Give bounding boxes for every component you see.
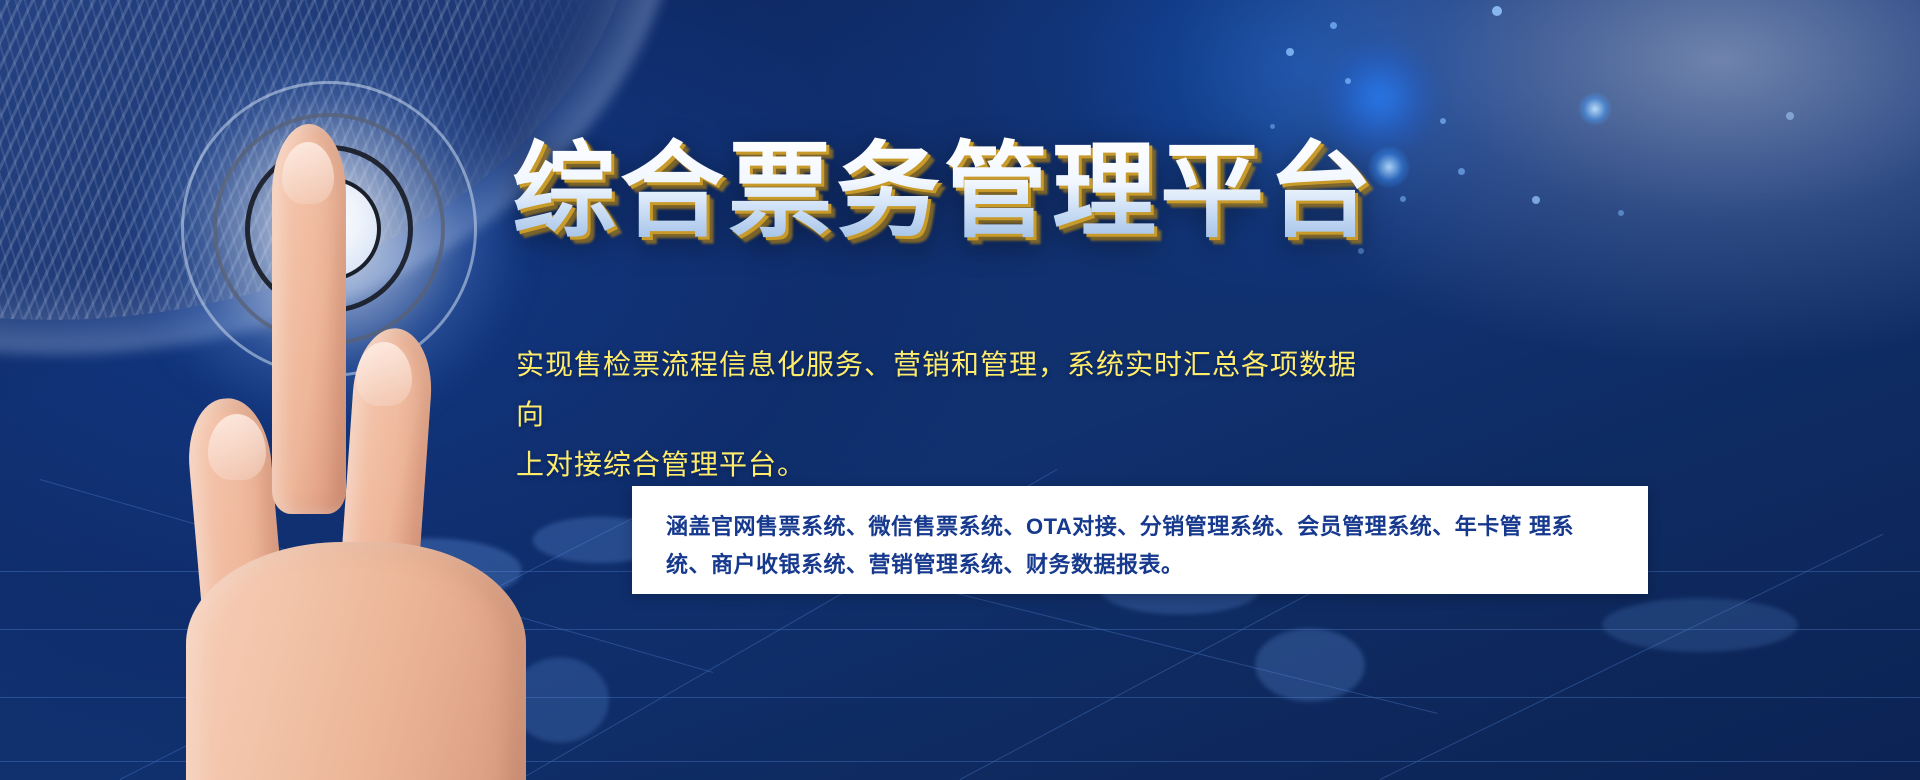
banner-subtitle: 实现售检票流程信息化服务、营销和管理，系统实时汇总各项数据向 上对接综合管理平台… xyxy=(516,340,1376,489)
feature-list-box: 涵盖官网售票系统、微信售票系统、OTA对接、分销管理系统、会员管理系统、年卡管 … xyxy=(632,486,1648,594)
bokeh-dot-icon xyxy=(1532,196,1540,204)
bokeh-dot-icon xyxy=(1440,118,1446,124)
pointing-hand-icon xyxy=(150,190,550,780)
banner-title: 综合票务管理平台 xyxy=(512,136,1376,246)
banner-subtitle-line: 实现售检票流程信息化服务、营销和管理，系统实时汇总各项数据向 xyxy=(516,340,1376,440)
feature-list-line: 涵盖官网售票系统、微信售票系统、OTA对接、分销管理系统、会员管理系统、年卡管 xyxy=(666,514,1522,539)
bokeh-dot-icon xyxy=(1345,78,1351,84)
feature-list-text: 涵盖官网售票系统、微信售票系统、OTA对接、分销管理系统、会员管理系统、年卡管 … xyxy=(632,486,1648,584)
bokeh-dot-icon xyxy=(1330,22,1337,29)
hand-palm-icon xyxy=(186,542,526,780)
bokeh-dot-icon xyxy=(1400,196,1406,202)
bokeh-dot-icon xyxy=(1618,210,1624,216)
bokeh-dot-icon xyxy=(1458,168,1465,175)
banner-subtitle-line: 上对接综合管理平台。 xyxy=(516,440,1376,490)
bokeh-dot-icon xyxy=(1578,92,1612,126)
bokeh-dot-icon xyxy=(1492,6,1502,16)
bokeh-dot-icon xyxy=(1286,48,1294,56)
hero-banner: 综合票务管理平台 实现售检票流程信息化服务、营销和管理，系统实时汇总各项数据向 … xyxy=(0,0,1920,780)
bokeh-dot-icon xyxy=(1786,112,1794,120)
